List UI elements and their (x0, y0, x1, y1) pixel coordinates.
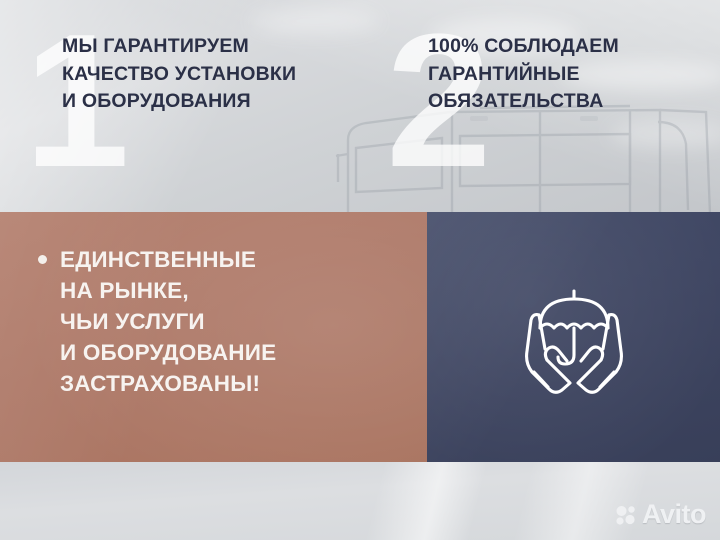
cloud-decoration (250, 8, 380, 34)
headline-warranty-obligations: 100% СОБЛЮДАЕМ ГАРАНТИЙНЫЕ ОБЯЗАТЕЛЬСТВА (428, 33, 678, 116)
avito-watermark: Avito (615, 499, 706, 530)
headline-guarantee-quality: МЫ ГАРАНТИРУЕМ КАЧЕСТВО УСТАНОВКИ И ОБОР… (62, 33, 362, 116)
bullet-list-item: ЕДИНСТВЕННЫЕ НА РЫНКЕ, ЧЬИ УСЛУГИ И ОБОР… (38, 244, 276, 399)
insurance-text-panel: ЕДИНСТВЕННЫЕ НА РЫНКЕ, ЧЬИ УСЛУГИ И ОБОР… (0, 212, 427, 464)
avito-dots-logo-icon (615, 504, 637, 526)
background-bottom (0, 462, 720, 540)
avito-wordmark: Avito (642, 499, 706, 530)
advertisement-banner: 1 2 МЫ ГАРАНТИРУЕМ КАЧЕСТВО УСТАНОВКИ И … (0, 0, 720, 540)
insurance-icon-panel (427, 212, 720, 464)
feature-band: ЕДИНСТВЕННЫЕ НА РЫНКЕ, ЧЬИ УСЛУГИ И ОБОР… (0, 212, 720, 464)
insurance-claim-text: ЕДИНСТВЕННЫЕ НА РЫНКЕ, ЧЬИ УСЛУГИ И ОБОР… (60, 244, 276, 399)
hands-holding-umbrella-icon (509, 279, 639, 397)
bullet-dot-icon (38, 255, 47, 264)
